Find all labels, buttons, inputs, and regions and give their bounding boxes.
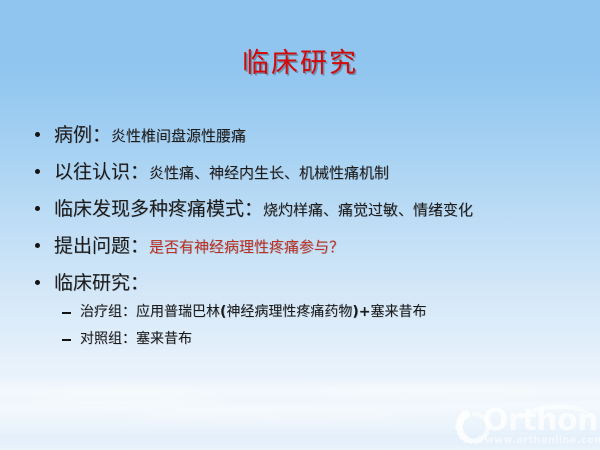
watermark-url: www.orthonline.com.cn (485, 435, 600, 446)
sub-list-item: 治疗组：应用普瑞巴林(神经病理性疼痛药物)+塞来昔布 (62, 302, 588, 323)
bullet-dot-icon (35, 243, 40, 248)
list-item: 提出问题：是否有神经病理性疼痛参与？ (28, 234, 588, 259)
list-item: 临床研究： (28, 271, 588, 296)
list-item-lead: 临床研究： (54, 272, 149, 294)
sub-item-text-a: 应用普瑞巴林 (136, 304, 220, 320)
sub-item-label: 对照组： (80, 331, 136, 347)
list-item: 以往认识：炎性痛、神经内生长、机械性痛机制 (28, 160, 588, 185)
cloud-wisp (20, 392, 230, 405)
slide-canvas: 临床研究 病例：炎性椎间盘源性腰痛 以往认识：炎性痛、神经内生长、机械性痛机制 … (0, 0, 600, 450)
bullet-dot-icon (35, 132, 40, 137)
sub-item-text-b: 神经病理性疼痛药物 (226, 304, 352, 320)
list-item: 病例：炎性椎间盘源性腰痛 (28, 123, 588, 148)
sub-item-text-a: 塞来昔布 (136, 331, 192, 347)
orthonline-watermark: Orthonline www.orthonline.com.cn (455, 404, 600, 450)
list-item: 临床发现多种疼痛模式：烧灼样痛、痛觉过敏、情绪变化 (28, 197, 588, 222)
list-item-lead: 临床发现多种疼痛模式： (54, 198, 263, 220)
horizon-haze-band (0, 395, 600, 421)
sub-item-text-c: 塞来昔布 (371, 304, 427, 320)
ring-of-dots-icon (455, 408, 493, 446)
watermark-brand: Orthonline (483, 406, 600, 436)
list-item-rest: 烧灼样痛、痛觉过敏、情绪变化 (263, 201, 473, 219)
list-item-rest: 炎性痛、神经内生长、机械性痛机制 (149, 164, 389, 182)
list-item-lead: 提出问题： (54, 235, 149, 257)
list-item-lead: 以往认识： (54, 161, 149, 183)
cloud-wisp (120, 408, 420, 420)
list-item-lead: 病例： (54, 124, 111, 146)
sub-item-bold-b: )+ (352, 304, 370, 320)
swoosh-icon (517, 403, 596, 431)
cloud-wisp (300, 386, 560, 397)
horizon-haze-band (0, 415, 600, 449)
dash-bullet-icon (62, 312, 71, 314)
bullet-dot-icon (35, 280, 40, 285)
sub-bullet-list: 治疗组：应用普瑞巴林(神经病理性疼痛药物)+塞来昔布 对照组：塞来昔布 (28, 302, 588, 350)
bullet-dot-icon (35, 206, 40, 211)
sub-item-label: 治疗组： (80, 304, 136, 320)
bullet-dot-icon (35, 169, 40, 174)
dash-bullet-icon (62, 339, 71, 341)
list-item-rest-highlight: 是否有神经病理性疼痛参与？ (149, 238, 344, 256)
list-item-rest: 炎性椎间盘源性腰痛 (111, 127, 246, 145)
slide-title: 临床研究 (0, 50, 600, 77)
bullet-list: 病例：炎性椎间盘源性腰痛 以往认识：炎性痛、神经内生长、机械性痛机制 临床发现多… (28, 123, 588, 356)
sub-list-item: 对照组：塞来昔布 (62, 329, 588, 350)
horizon-haze-band (0, 376, 600, 402)
